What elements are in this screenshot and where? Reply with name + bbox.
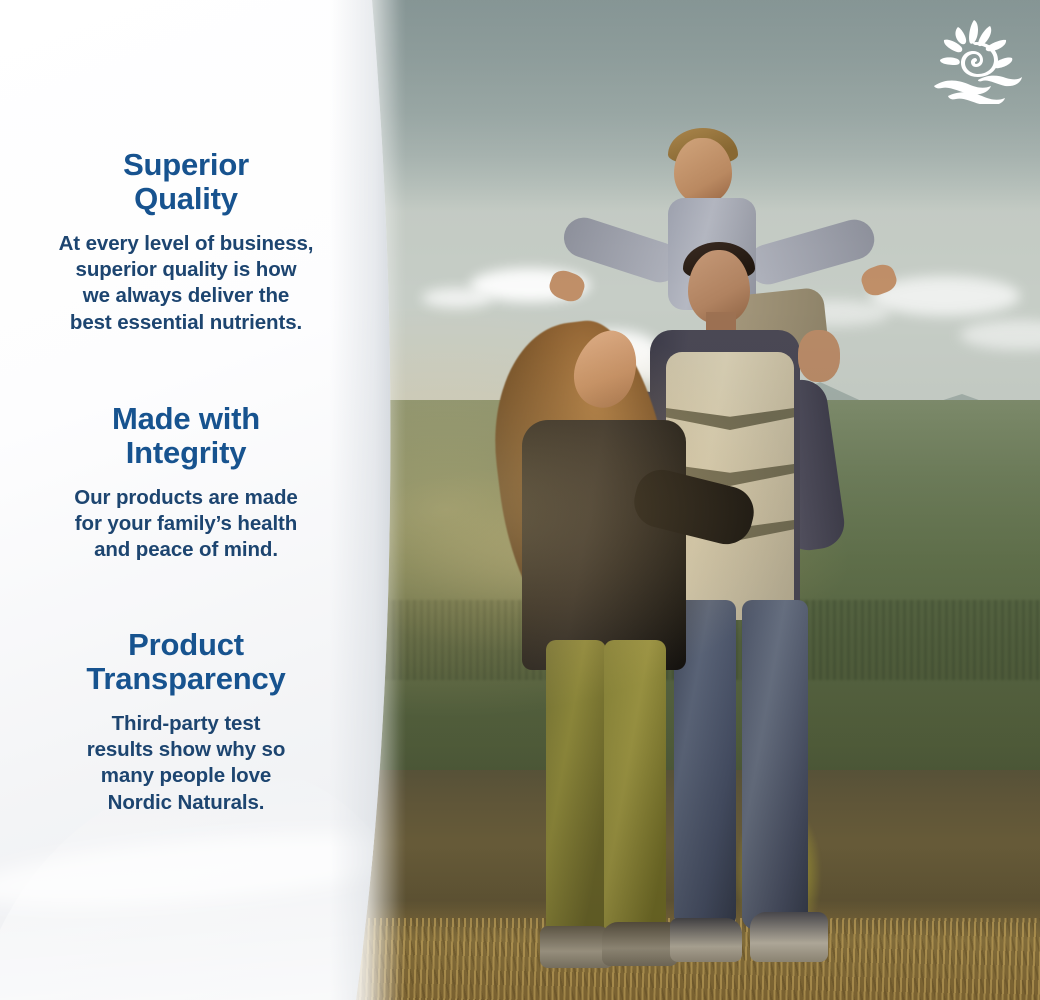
father-left-shoe: [670, 918, 742, 962]
cloud: [422, 288, 492, 308]
vest-chevron: [666, 408, 794, 430]
body-product-transparency: Third-party testresults show why somany …: [34, 711, 338, 816]
body-made-with-integrity: Our products are madefor your family’s h…: [34, 485, 338, 564]
mother-right-leg: [604, 640, 666, 940]
child-head: [674, 138, 732, 204]
value-block-made-with-integrity: Made withIntegrity Our products are made…: [34, 402, 338, 564]
heading-product-transparency: ProductTransparency: [34, 628, 338, 697]
heading-made-with-integrity: Made withIntegrity: [34, 402, 338, 471]
promotional-banner: SuperiorQuality At every level of busine…: [0, 0, 1040, 1000]
mother-right-shoe: [602, 922, 678, 966]
family-mountain-photo: [350, 0, 1040, 1000]
father-right-leg: [742, 600, 808, 930]
value-block-product-transparency: ProductTransparency Third-party testresu…: [34, 628, 338, 816]
body-superior-quality: At every level of business,superior qual…: [34, 231, 338, 336]
father-hand: [798, 330, 840, 382]
heading-superior-quality: SuperiorQuality: [34, 148, 338, 217]
father-right-shoe: [750, 912, 828, 962]
value-propositions: SuperiorQuality At every level of busine…: [0, 0, 372, 1000]
sun-wave-logo-icon: [928, 18, 1024, 104]
mother-leather-jacket: [522, 420, 686, 670]
mother-left-leg: [546, 640, 606, 940]
value-block-superior-quality: SuperiorQuality At every level of busine…: [34, 148, 338, 336]
